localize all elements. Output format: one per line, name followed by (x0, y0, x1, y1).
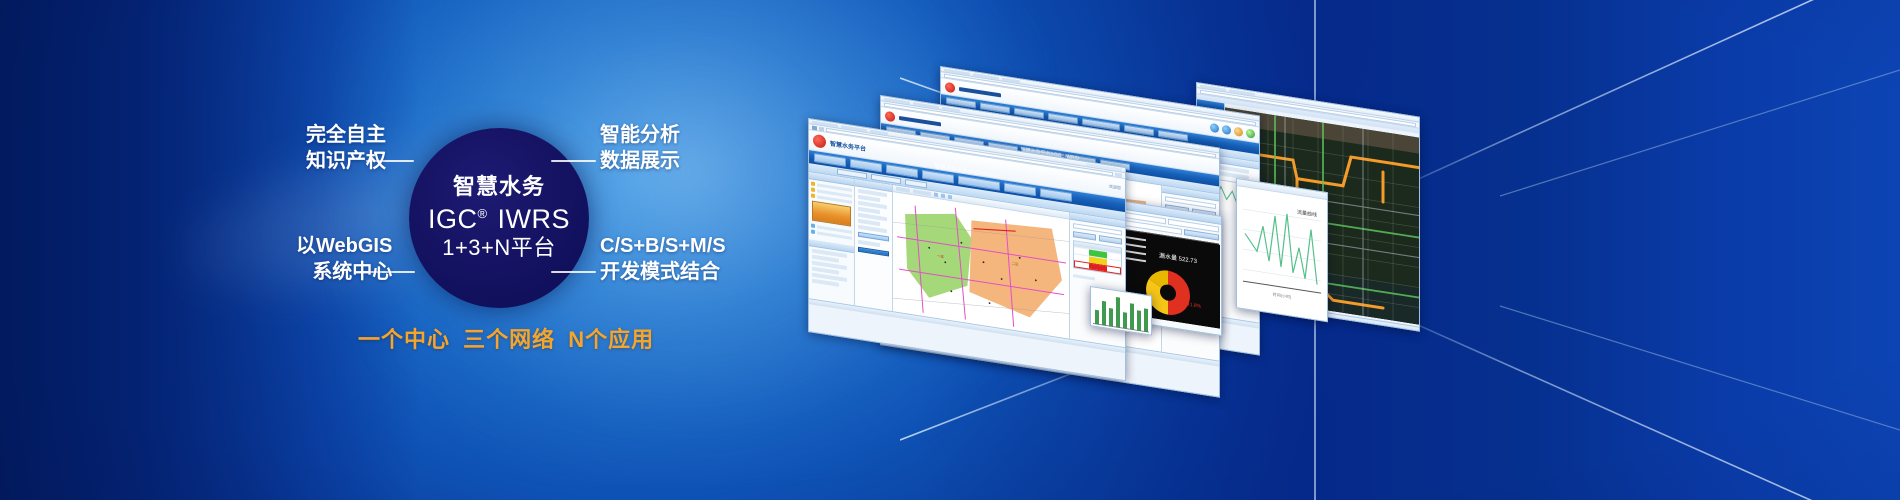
hub-platform: 1+3+N平台 (442, 236, 556, 261)
hub-title-cn: 智慧水务 (453, 175, 545, 200)
feature-bottom-left: 以WebGIS 系统中心 (296, 233, 392, 286)
slogan-part3: N个应用 (568, 327, 654, 352)
hub-product-line: IGC®IWRS (428, 204, 570, 234)
folder-icon (811, 187, 815, 192)
toolbar-icon[interactable] (1246, 128, 1255, 138)
slogan-part1: 一个中心 (358, 327, 450, 352)
layer-icon (811, 229, 815, 234)
clear-button[interactable] (1099, 235, 1122, 245)
toolbar-icon[interactable] (1234, 127, 1243, 137)
zoom-in-icon[interactable] (934, 193, 938, 198)
feature-bottom-right-line2: 开发模式结合 (600, 259, 726, 285)
front-tool-pane[interactable] (855, 179, 893, 311)
folder-icon (811, 181, 815, 186)
pan-icon[interactable] (948, 195, 952, 200)
slogan-part2: 三个网络 (463, 327, 555, 352)
front-layer-pane[interactable] (809, 172, 855, 305)
flow-curve-body: 流量曲线 时间(小时) (1237, 186, 1327, 322)
flow-curve-panel[interactable]: 流量曲线 时间(小时) (1236, 178, 1328, 322)
registered-trademark-icon: ® (477, 206, 487, 221)
toolbar-icon[interactable] (1210, 123, 1219, 133)
feature-bottom-right: C/S+B/S+M/S 开发模式结合 (600, 233, 726, 286)
hub-circle: 智慧水务 IGC®IWRS 1+3+N平台 (409, 128, 589, 308)
feature-top-right-line1: 智能分析 (600, 124, 680, 146)
feature-top-left-line1: 完全自主 (306, 122, 386, 148)
brand-name (899, 115, 941, 126)
company-logo-icon (945, 81, 955, 93)
feature-top-left-line2: 知识产权 (306, 148, 386, 174)
user-greeting: 欢迎您 (1109, 183, 1121, 191)
nav-item-analysis[interactable] (886, 164, 918, 178)
folder-icon (811, 193, 815, 198)
map-tool-icon[interactable] (896, 187, 910, 193)
query-button[interactable] (1073, 231, 1096, 241)
company-logo-icon (885, 110, 895, 122)
nav-item-query[interactable] (814, 153, 846, 167)
nav-item-business[interactable] (1004, 182, 1036, 196)
connector-top-right (551, 160, 596, 162)
tool-button-active[interactable] (858, 247, 889, 257)
attribute-footer-label (1073, 274, 1095, 280)
slogan: 一个中心 三个网络 N个应用 (355, 322, 655, 354)
forward-icon[interactable] (819, 126, 824, 131)
banner-root: 智慧水务平台(IGC®IWRS) (0, 0, 1900, 500)
nav-item-system[interactable] (1040, 188, 1072, 202)
feature-top-left: 完全自主 知识产权 (306, 122, 386, 175)
feature-top-right-line2: 数据展示 (600, 148, 680, 174)
hub-product-main: IGC (428, 204, 478, 234)
alert-status-table[interactable] (1073, 240, 1122, 276)
brand-name (959, 86, 1001, 97)
nav-item-manage[interactable] (850, 159, 882, 173)
tool-row[interactable] (858, 240, 880, 247)
layer-icon (811, 223, 815, 228)
hub-product-sub: IWRS (498, 204, 571, 234)
connector-bottom-right (551, 271, 596, 273)
feature-top-right: 智能分析 数据展示 (600, 122, 680, 175)
company-logo-icon (813, 134, 826, 149)
feature-bottom-left-line2: 系统中心 (296, 259, 392, 285)
legend-gradient-swatch (812, 201, 851, 227)
zoom-out-icon[interactable] (941, 194, 945, 199)
feature-bottom-right-line1: C/S+B/S+M/S (600, 235, 726, 257)
feature-bottom-left-line1: 以WebGIS (296, 233, 392, 259)
toolbar-icon[interactable] (1222, 125, 1231, 135)
search-icon[interactable] (1115, 172, 1122, 177)
back-icon[interactable] (812, 125, 817, 130)
brand-name-label: 智慧水务平台 (830, 138, 866, 153)
